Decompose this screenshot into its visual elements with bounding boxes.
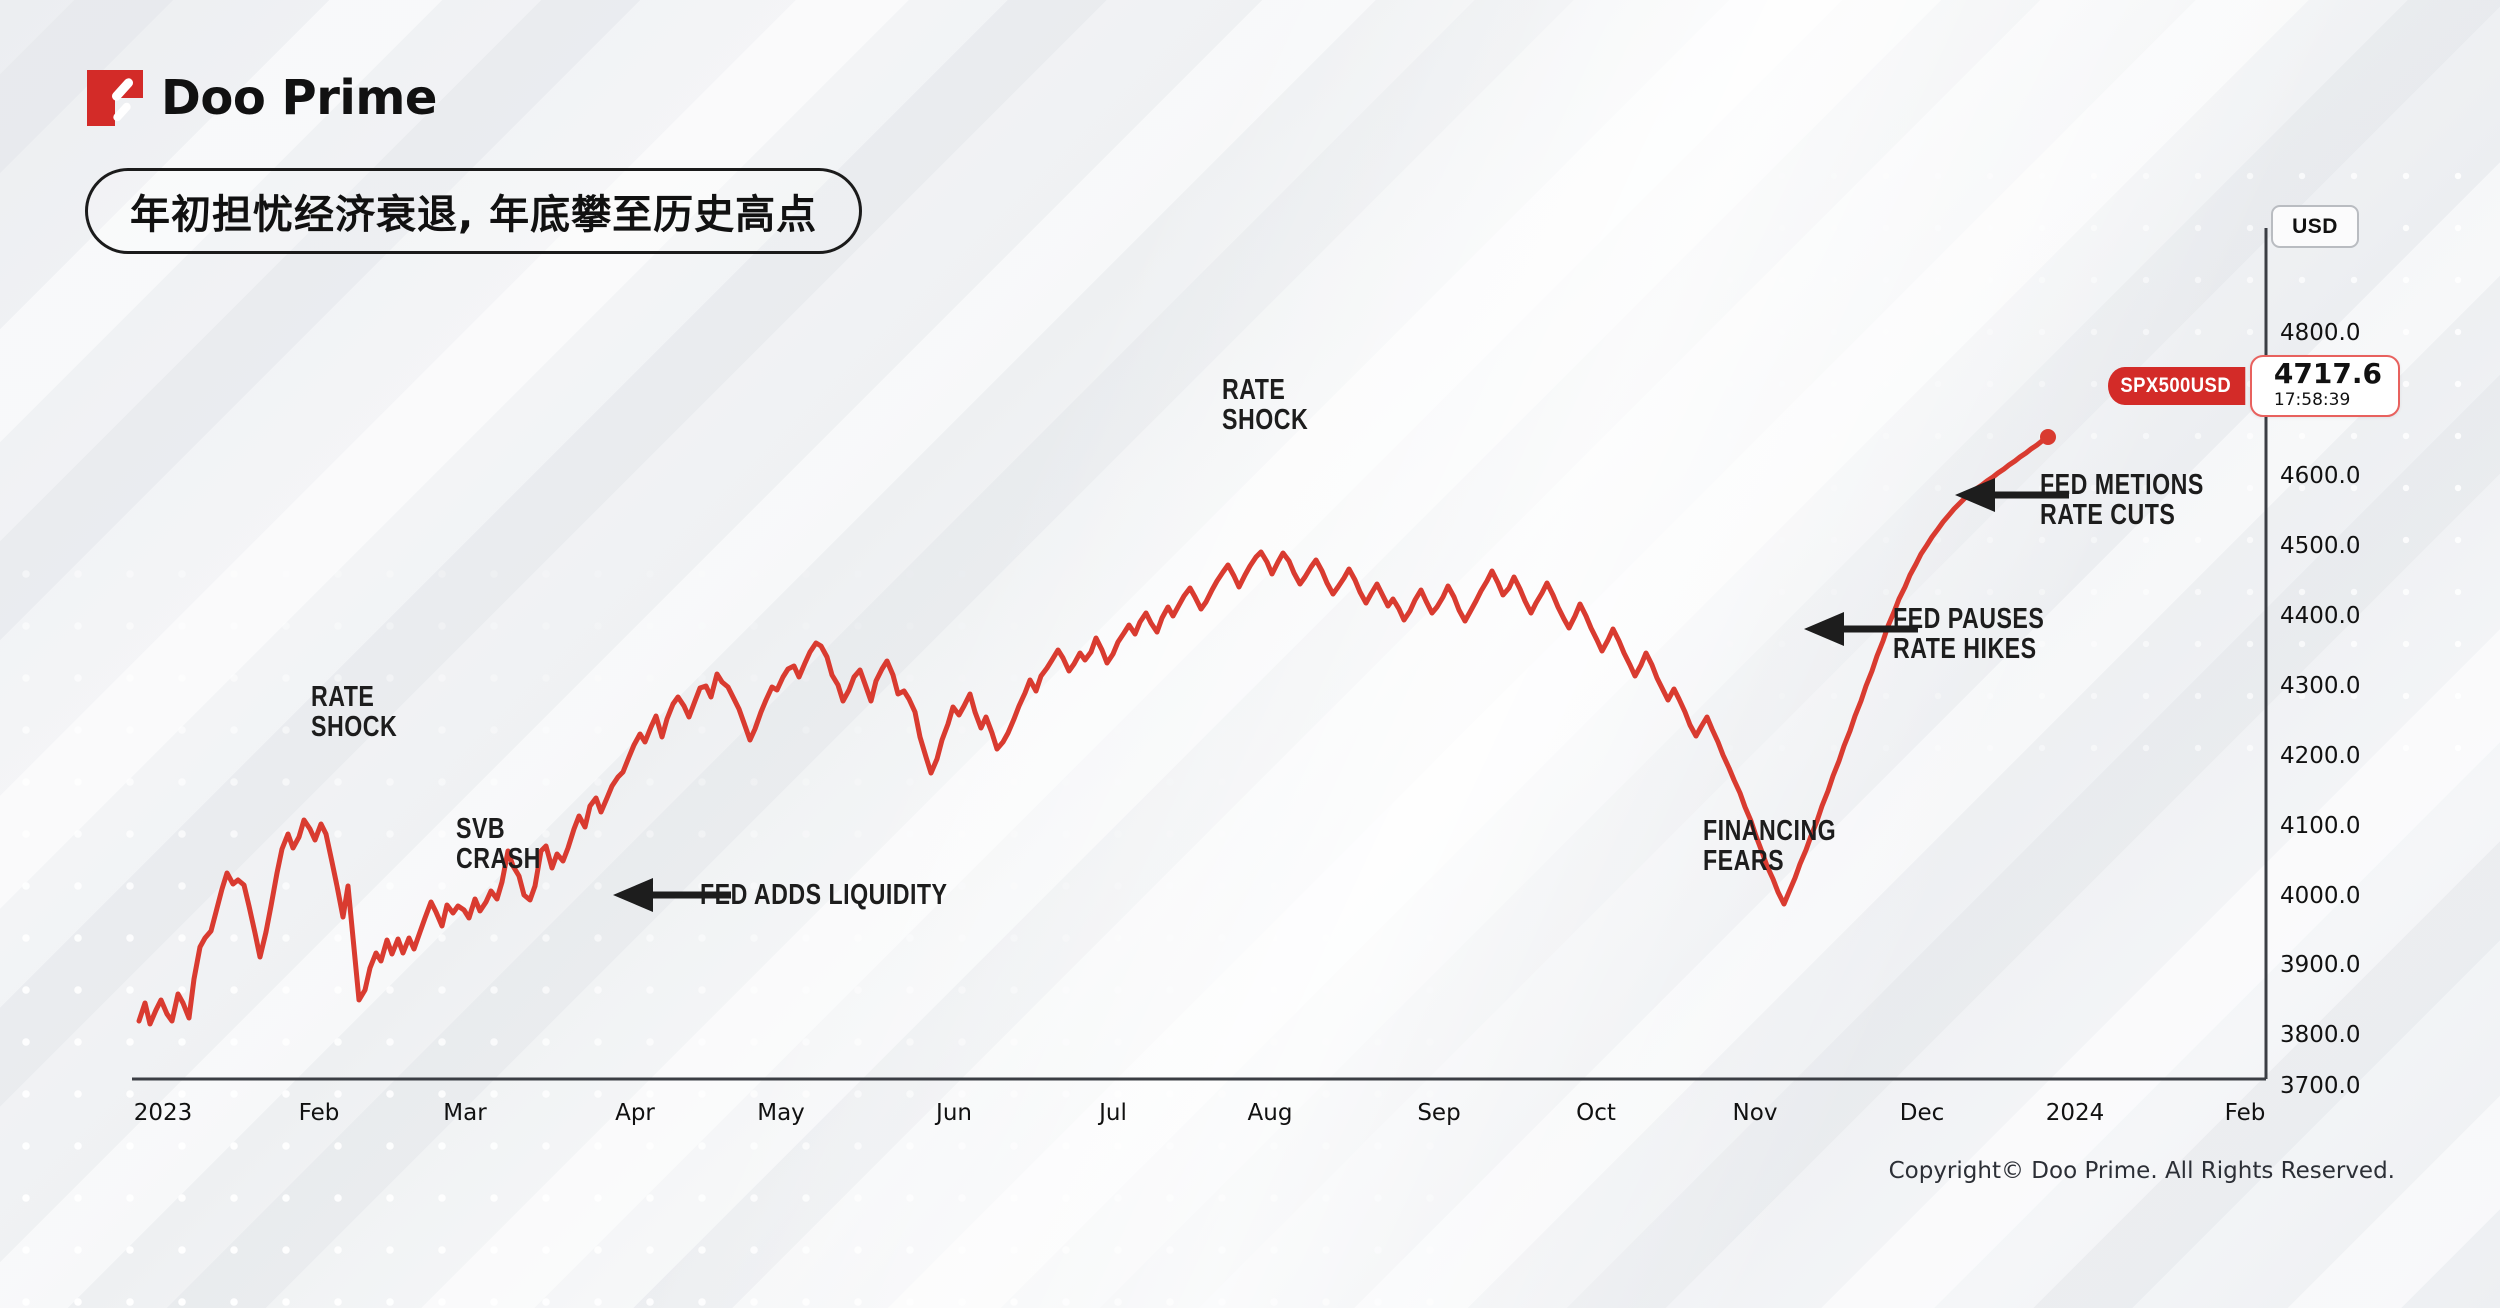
x-tick-jun: Jun: [936, 1100, 972, 1126]
annotation-rate-shock-2: RATE SHOCK: [1222, 375, 1308, 435]
price-box: 4717.6 17:58:39: [2250, 355, 2400, 417]
x-tick-aug: Aug: [1248, 1100, 1293, 1126]
x-tick-2023: 2023: [134, 1100, 193, 1126]
symbol-pill: SPX500USD: [2108, 367, 2245, 405]
background-dot-pattern-right: [1600, 150, 2500, 770]
currency-unit-chip[interactable]: USD: [2271, 205, 2359, 248]
x-tick-apr: Apr: [615, 1100, 655, 1126]
annotation-fed-adds-liquidity: FED ADDS LIQUIDITY: [700, 880, 948, 910]
x-tick-nov: Nov: [1733, 1100, 1778, 1126]
brand-logo: Doo Prime: [85, 68, 437, 128]
brand-name: Doo Prime: [161, 70, 437, 126]
annotation-financing-fears: FINANCING FEARS: [1703, 816, 1836, 876]
y-tick-4200: 4200.0: [2280, 743, 2360, 769]
x-tick-feb: Feb: [299, 1100, 340, 1126]
x-tick-jul: Jul: [1099, 1100, 1127, 1126]
y-tick-4800: 4800.0: [2280, 320, 2360, 346]
x-tick-feb-2024: Feb: [2225, 1100, 2266, 1126]
background-dot-pattern: [0, 548, 1450, 1308]
x-tick-mar: Mar: [443, 1100, 486, 1126]
x-tick-2024: 2024: [2046, 1100, 2105, 1126]
y-tick-3800: 3800.0: [2280, 1022, 2360, 1048]
y-tick-3700: 3700.0: [2280, 1073, 2360, 1099]
page-title: 年初担忧经济衰退, 年底攀至历史高点: [85, 168, 862, 254]
y-tick-4500: 4500.0: [2280, 533, 2360, 559]
doo-prime-logo-icon: [85, 68, 145, 128]
x-tick-dec: Dec: [1900, 1100, 1945, 1126]
copyright-text: Copyright© Doo Prime. All Rights Reserve…: [1889, 1158, 2395, 1184]
y-tick-4600: 4600.0: [2280, 463, 2360, 489]
y-tick-4100: 4100.0: [2280, 813, 2360, 839]
y-tick-4300: 4300.0: [2280, 673, 2360, 699]
x-tick-sep: Sep: [1417, 1100, 1460, 1126]
annotation-svb-crash: SVB CRASH: [456, 814, 541, 874]
price-time: 17:58:39: [2274, 390, 2350, 411]
annotation-fed-pauses-rate-hikes: FED PAUSES RATE HIKES: [1893, 604, 2044, 664]
page-title-text: 年初担忧经济衰退, 年底攀至历史高点: [130, 182, 817, 240]
y-tick-3900: 3900.0: [2280, 952, 2360, 978]
price-value: 4717.6: [2274, 360, 2382, 388]
x-tick-oct: Oct: [1576, 1100, 1616, 1126]
annotation-rate-shock-1: RATE SHOCK: [311, 682, 397, 742]
price-badge[interactable]: SPX500USD 4717.6 17:58:39: [2108, 355, 2400, 417]
x-tick-may: May: [757, 1100, 805, 1126]
y-tick-4400: 4400.0: [2280, 603, 2360, 629]
y-tick-4000: 4000.0: [2280, 883, 2360, 909]
annotation-fed-metions-rate-cuts: FED METIONS RATE CUTS: [2040, 470, 2204, 530]
